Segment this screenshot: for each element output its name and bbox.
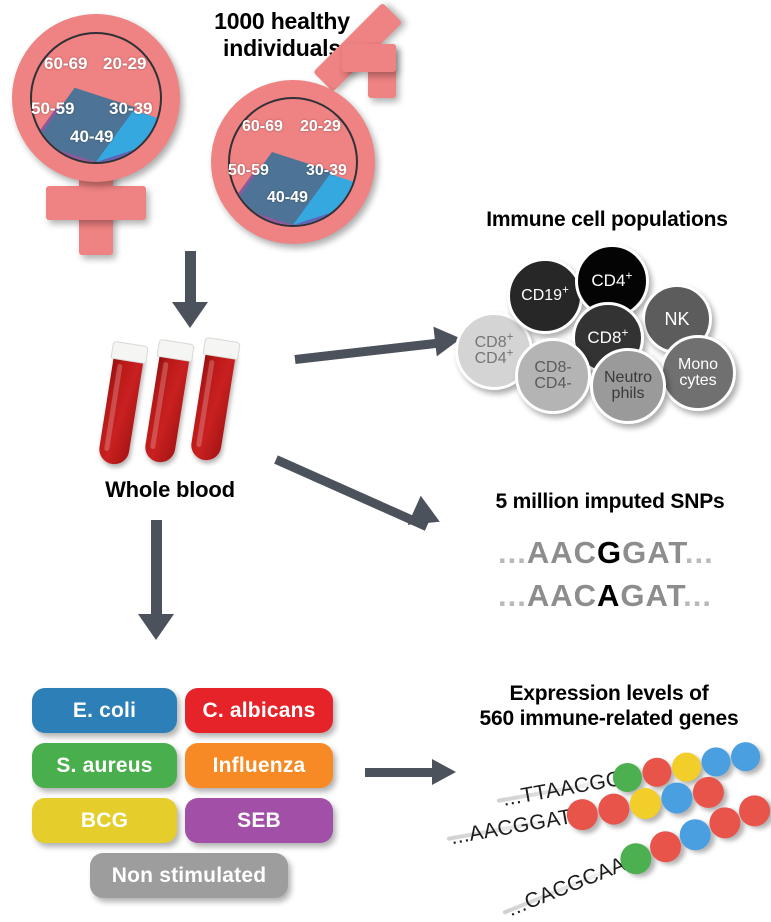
- pie-label-40-49: 40-49: [70, 127, 113, 147]
- whole-blood-tubes: [110, 340, 270, 480]
- arrow-shaft: [274, 455, 428, 530]
- figure-canvas: 1000 healthy individuals 20-29 30-39 40-…: [0, 0, 771, 922]
- gene-bead: [659, 780, 695, 816]
- immune-cell-cd19pos: CD19+: [507, 258, 583, 334]
- arrow-shaft: [151, 520, 162, 618]
- immune-cell-cd8neg-cd4neg: CD8-CD4-: [515, 338, 591, 414]
- snp-sequence-row: ...AACAGAT...: [498, 578, 712, 614]
- stimulus-bcg[interactable]: BCG: [32, 798, 177, 843]
- female-stem-horizontal: [46, 186, 146, 220]
- pie-label-50-59: 50-59: [31, 99, 74, 119]
- arrow-head: [432, 759, 456, 785]
- male-symbol: 20-29 30-39 40-49 50-59 60-69: [205, 40, 420, 250]
- arrow-head: [172, 302, 208, 328]
- stimulus-e-coli[interactable]: E. coli: [32, 688, 177, 733]
- cell-label: CD19+: [521, 288, 569, 304]
- pie-label-20-29: 20-29: [300, 118, 341, 136]
- pie-label-30-39: 30-39: [109, 99, 152, 119]
- snp-prefix: ...: [498, 535, 527, 570]
- stimulus-influenza[interactable]: Influenza: [185, 743, 333, 788]
- male-arrow-head-horizontal: [342, 44, 396, 72]
- cell-label: CD8+CD4+: [475, 335, 514, 368]
- immune-cell-neutrophils: Neutrophils: [590, 348, 666, 424]
- strand-sequence: ...CACGCAA: [504, 853, 629, 922]
- arrow-head: [138, 614, 174, 640]
- strand-sequence: ...AACGGAT: [449, 805, 574, 850]
- stimulus-non-stimulated[interactable]: Non stimulated: [90, 853, 288, 898]
- female-symbol: 20-29 30-39 40-49 50-59 60-69: [8, 10, 188, 260]
- snps-title: 5 million imputed SNPs: [460, 490, 760, 515]
- snp-prefix: ...: [498, 578, 527, 613]
- blood-tube: [188, 337, 244, 471]
- snp-suffix: ...: [683, 578, 712, 613]
- cell-label: Monocytes: [678, 357, 718, 390]
- pie-label-40-49: 40-49: [267, 189, 308, 207]
- pie-label-50-59: 50-59: [228, 162, 269, 180]
- snp-left-bases: AAC: [527, 535, 597, 570]
- stimulus-c-albicans[interactable]: C. albicans: [185, 688, 333, 733]
- snp-right-bases: GAT: [622, 535, 685, 570]
- gene-bead: [627, 786, 663, 822]
- expression-title: Expression levels of 560 immune-related …: [450, 682, 768, 732]
- snp-sequence-row: ...AACGGAT...: [498, 535, 714, 571]
- pie-label-20-29: 20-29: [103, 54, 146, 74]
- pie-label-60-69: 60-69: [242, 118, 283, 136]
- snp-left-bases: AAC: [527, 578, 597, 613]
- immune-populations-title: Immune cell populations: [452, 208, 762, 233]
- snp-variant-base: G: [597, 535, 622, 570]
- arrow-shaft: [185, 251, 196, 305]
- immune-cell-monocytes: Monocytes: [660, 335, 736, 411]
- gene-bead: [690, 774, 726, 810]
- pie-label-60-69: 60-69: [44, 54, 87, 74]
- stimulus-seb[interactable]: SEB: [185, 798, 333, 843]
- cell-label: CD4+: [591, 272, 632, 289]
- arrow-head: [408, 496, 447, 537]
- cell-label: Neutrophils: [604, 370, 652, 403]
- stimulus-s-aureus[interactable]: S. aureus: [32, 743, 177, 788]
- immune-cell-cluster: CD8+CD4+ CD19+ CD4+ NK CD8+ Monocytes CD…: [455, 240, 755, 425]
- gene-bead: [729, 740, 763, 774]
- snp-right-bases: GAT: [620, 578, 683, 613]
- cell-label: CD8+: [587, 329, 628, 346]
- pie-label-30-39: 30-39: [306, 162, 347, 180]
- cell-label: CD8-CD4-: [534, 360, 571, 393]
- snp-suffix: ...: [685, 535, 714, 570]
- whole-blood-label: Whole blood: [75, 477, 265, 503]
- arrow-shaft: [294, 338, 444, 364]
- snp-variant-base: A: [597, 578, 620, 613]
- gene-strand-cluster: ...TTAACGG ...AACGGAT ...CACGCAA: [455, 745, 771, 920]
- cell-label: NK: [664, 310, 689, 328]
- arrow-shaft: [365, 768, 437, 777]
- gene-bead: [596, 791, 632, 827]
